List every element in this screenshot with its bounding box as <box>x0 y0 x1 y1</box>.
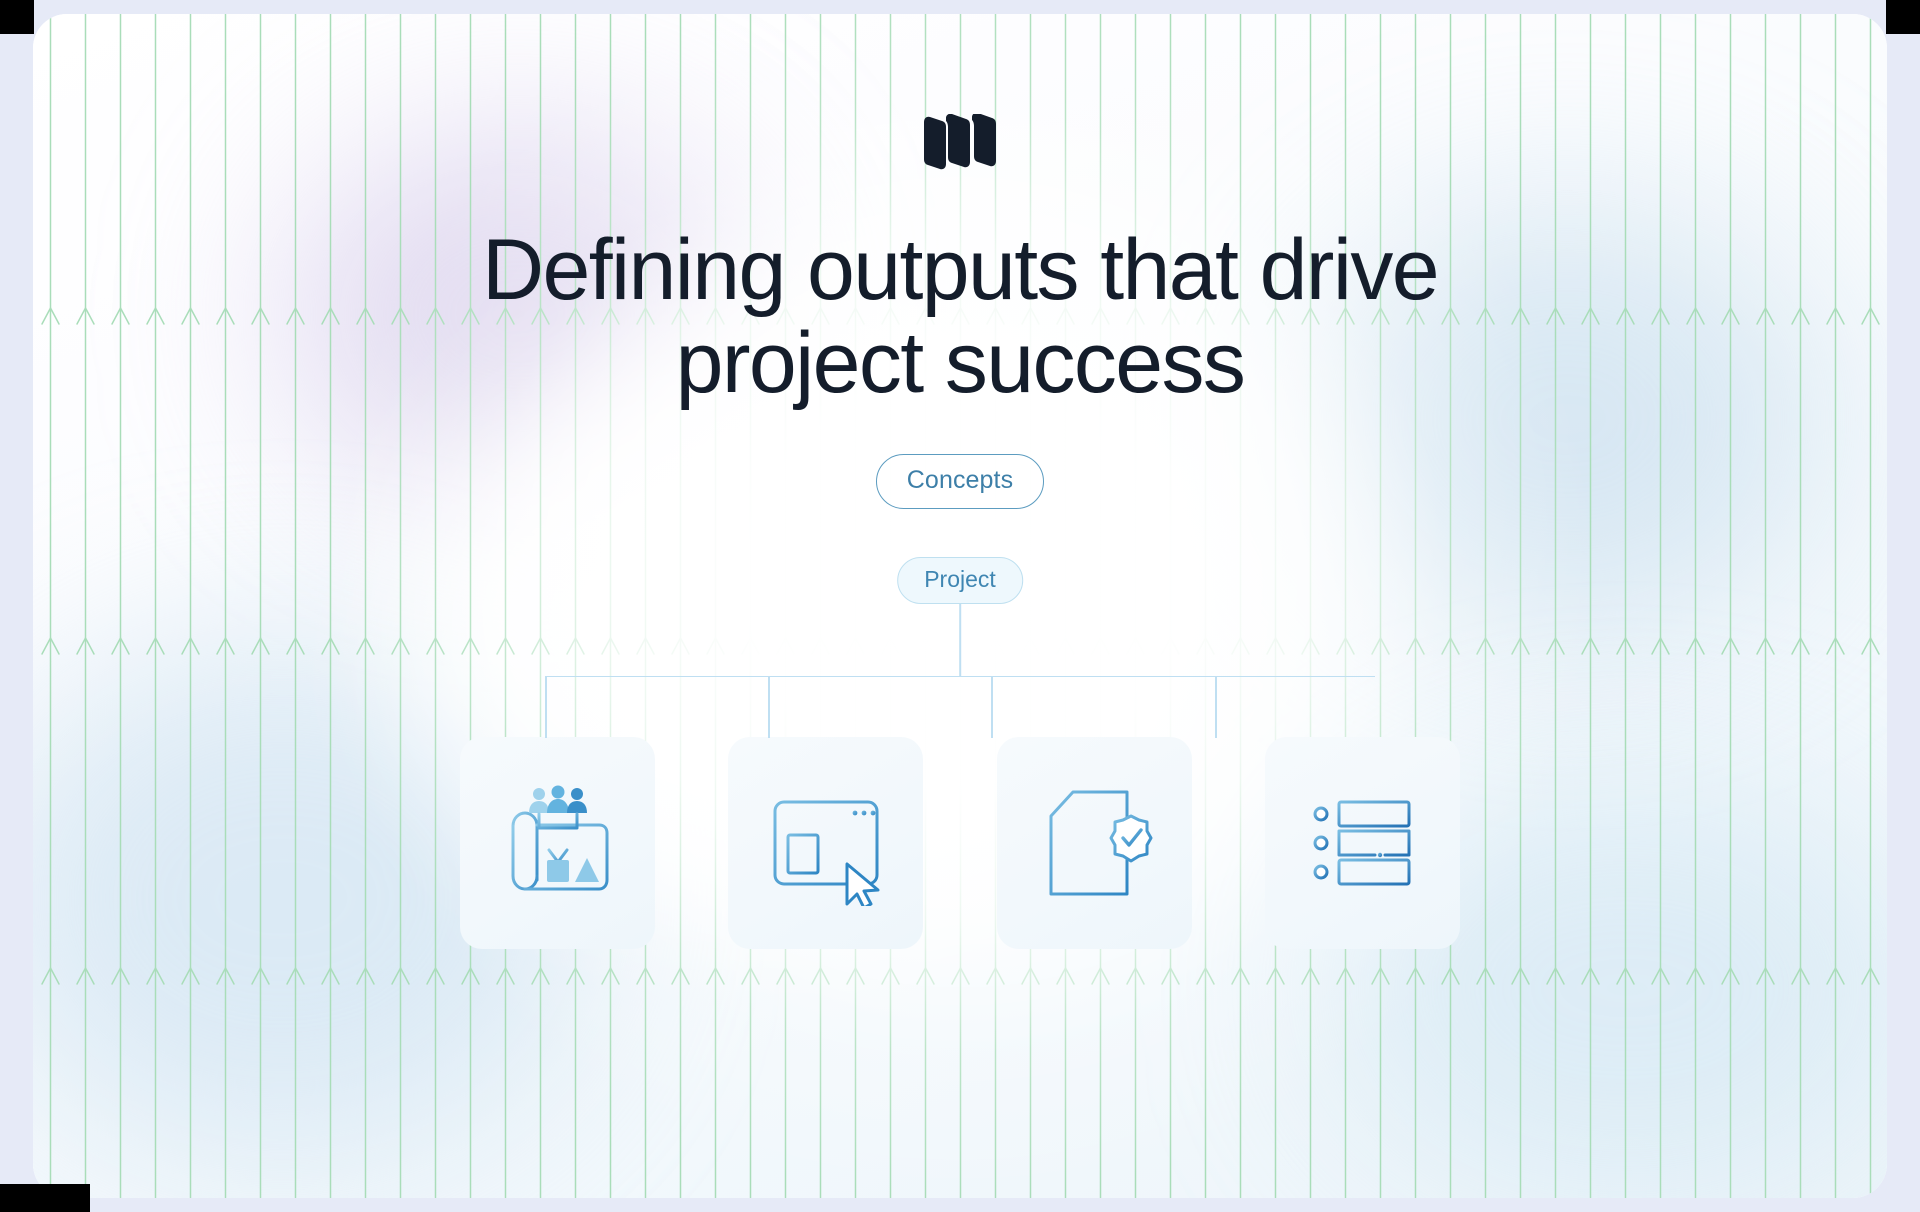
page-title: Defining outputs that drive project succ… <box>370 224 1550 410</box>
corner-artifact-bottom-left <box>0 1184 90 1212</box>
page-frame: Defining outputs that drive project succ… <box>0 0 1920 1212</box>
verified-document-icon <box>1031 780 1157 906</box>
icon-card-document[interactable]: Document with verified badge <box>997 737 1192 949</box>
browser-window-cursor-icon <box>763 780 889 906</box>
stacked-books-logo <box>912 114 1008 176</box>
tree-root-node-project[interactable]: Project <box>897 557 1023 604</box>
icon-card-timeline[interactable]: Timeline with milestone entries <box>1265 737 1460 949</box>
blueprint-stakeholders-icon <box>495 780 621 906</box>
verified-badge-icon <box>1111 816 1151 861</box>
corner-artifact-top-left <box>0 0 34 34</box>
corner-artifact-top-right <box>1886 0 1920 34</box>
connector-drop-4 <box>1215 676 1217 738</box>
slide-canvas: Defining outputs that drive project succ… <box>33 14 1887 1198</box>
connector-drop-2 <box>768 676 770 738</box>
timeline-milestones-icon <box>1299 780 1425 906</box>
icon-card-blueprint[interactable]: Blueprint with stakeholders and shapes <box>460 737 655 949</box>
icon-card-interface[interactable]: Browser window with cursor <box>728 737 923 949</box>
category-pill-concepts[interactable]: Concepts <box>876 454 1044 509</box>
concept-tree-diagram: Project Blueprint with stakeholders and … <box>460 557 1460 987</box>
icon-card-row: Blueprint with stakeholders and shapes <box>460 737 1460 949</box>
connector-root-stem <box>959 603 961 677</box>
cursor-arrow-icon <box>847 864 878 906</box>
connector-drop-1 <box>545 676 547 738</box>
content-stack: Defining outputs that drive project succ… <box>33 14 1887 1198</box>
connector-horizontal-bus <box>545 676 1375 678</box>
connector-drop-3 <box>991 676 993 738</box>
